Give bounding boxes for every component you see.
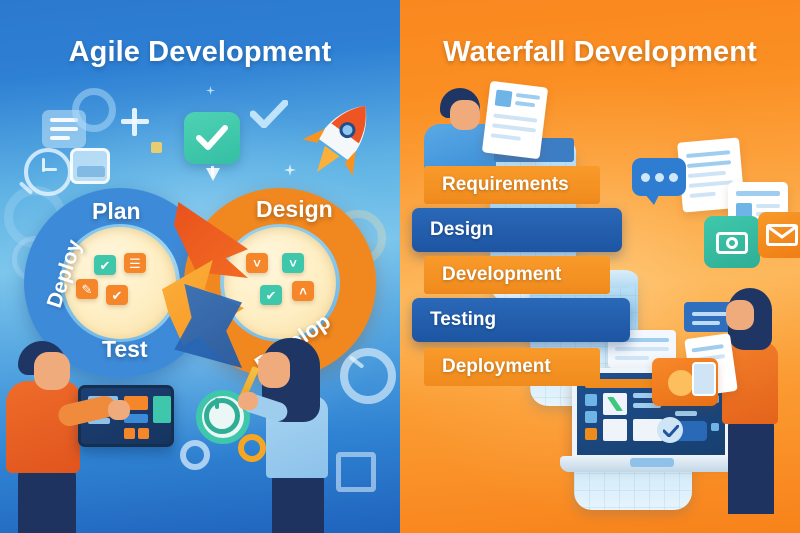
clock-hand-icon [44, 168, 57, 171]
agile-label-design: Design [256, 196, 333, 223]
analyst-man [424, 124, 496, 170]
agile-label-test: Test [102, 336, 148, 363]
waterfall-tier [574, 388, 692, 510]
waterfall-panel-title: Waterfall Development [400, 36, 800, 69]
down-arrow-icon [211, 166, 214, 178]
agile-panel: ✔ ☰ ✎ ✔ ˅ ˅ ✔ ˄ Plan Design Test Develop… [0, 0, 400, 533]
menu-list-icon [42, 110, 86, 148]
waterfall-stage-deployment[interactable]: Deployment [424, 348, 600, 386]
rocket-icon [287, 84, 394, 195]
waterfall-crest [490, 141, 576, 161]
waterfall-stage-testing[interactable]: Testing [412, 298, 630, 342]
developer-woman [272, 472, 324, 533]
developer-woman [258, 352, 290, 388]
image-icon [70, 148, 110, 184]
agile-infinity-loop: ✔ ☰ ✎ ✔ ˅ ˅ ✔ ˄ Plan Design Test Develop… [24, 188, 376, 378]
agile-label-plan: Plan [92, 198, 141, 225]
stage-label: Design [430, 219, 493, 241]
sparkle-icon [206, 86, 215, 95]
square-outline-icon [336, 452, 376, 492]
developer-man [108, 400, 130, 420]
analyst-woman [726, 300, 754, 330]
waterfall-stage-design[interactable]: Design [412, 208, 622, 252]
stage-label: Requirements [442, 174, 569, 196]
gear-icon [72, 88, 116, 132]
plus-icon [132, 108, 137, 136]
stage-label: Development [442, 264, 561, 286]
waterfall-stage-development[interactable]: Development [424, 256, 610, 294]
power-icon [204, 398, 240, 434]
gear-icon [180, 440, 210, 470]
plus-icon [121, 119, 149, 124]
waterfall-stage-requirements[interactable]: Requirements [424, 166, 600, 204]
check-card-icon [184, 112, 240, 164]
developer-man [6, 381, 80, 473]
stage-label: Deployment [442, 356, 551, 378]
power-icon [215, 398, 219, 409]
agile-panel-title: Agile Development [0, 36, 400, 69]
clock-hand-icon [42, 158, 45, 172]
stage-label: Testing [430, 309, 496, 331]
sparkle-icon [284, 164, 296, 176]
infographic-canvas: ✔ ☰ ✎ ✔ ˅ ˅ ✔ ˄ Plan Design Test Develop… [0, 0, 800, 533]
check-badge-icon [250, 100, 288, 128]
analyst-man [450, 100, 480, 130]
analyst-woman [722, 342, 778, 424]
square-marker-icon [151, 142, 162, 153]
developer-man [34, 352, 70, 390]
developer-woman [238, 392, 258, 410]
down-arrow-icon [206, 168, 220, 181]
analyst-woman [728, 418, 774, 514]
gear-icon [238, 434, 266, 462]
developer-man [18, 466, 76, 533]
